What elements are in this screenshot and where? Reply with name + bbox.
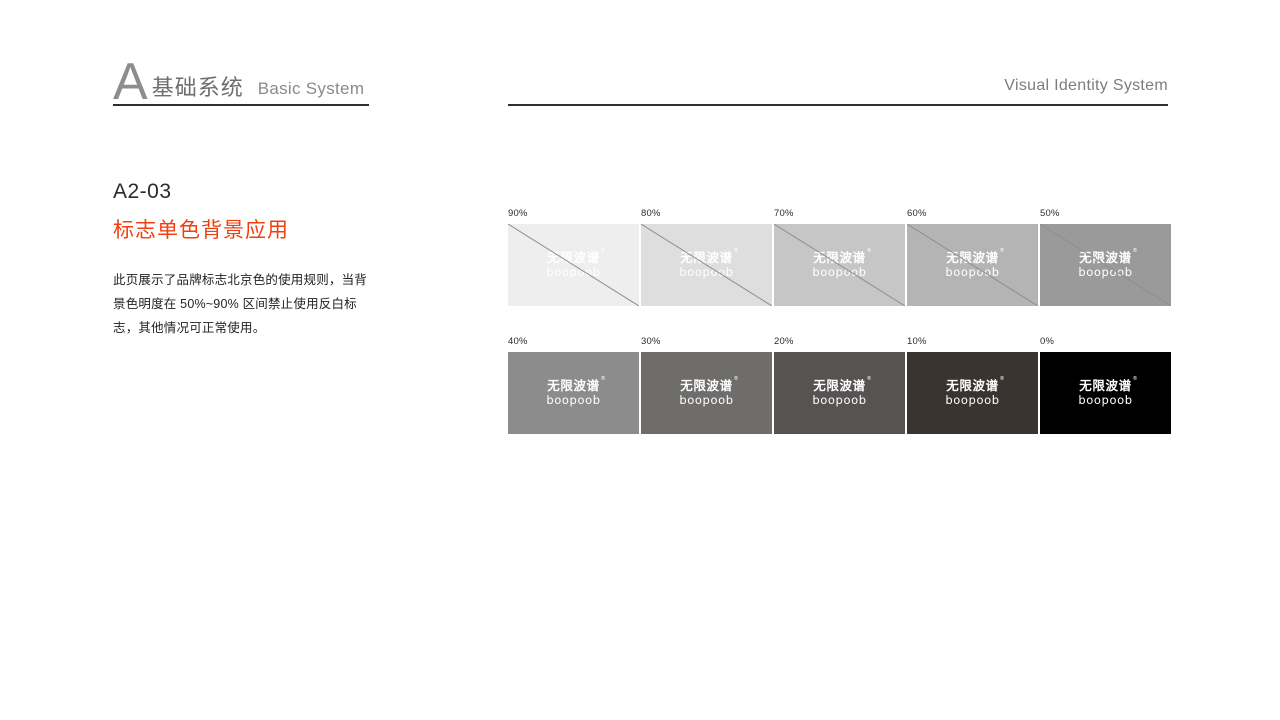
logo-text-en: boopoob	[945, 267, 999, 279]
brand-logo: 无限波谱®boopoob	[679, 380, 733, 407]
logo-text-en: boopoob	[812, 267, 866, 279]
logo-text-en: boopoob	[812, 395, 866, 407]
swatch-row-prohibited: 90%无限波谱®boopoob80%无限波谱®boopoob70%无限波谱®bo…	[508, 208, 1171, 306]
swatch-cell: 40%无限波谱®boopoob	[508, 336, 639, 434]
brand-logo: 无限波谱®boopoob	[812, 252, 866, 279]
swatch-cell: 80%无限波谱®boopoob	[641, 208, 772, 306]
brand-logo: 无限波谱®boopoob	[546, 252, 600, 279]
swatch-label: 20%	[774, 336, 905, 347]
section-letter: A	[113, 56, 148, 108]
swatch-label: 70%	[774, 208, 905, 219]
registered-mark-icon: ®	[601, 377, 606, 383]
logo-text-cn: 无限波谱®	[946, 252, 998, 265]
brand-logo: 无限波谱®boopoob	[546, 380, 600, 407]
swatch-label: 30%	[641, 336, 772, 347]
brand-logo: 无限波谱®boopoob	[945, 252, 999, 279]
swatch-cell: 50%无限波谱®boopoob	[1040, 208, 1171, 306]
swatch-row-allowed: 40%无限波谱®boopoob30%无限波谱®boopoob20%无限波谱®bo…	[508, 336, 1171, 434]
swatch-label: 90%	[508, 208, 639, 219]
logo-text-cn: 无限波谱®	[1079, 252, 1131, 265]
swatch-cell: 90%无限波谱®boopoob	[508, 208, 639, 306]
logo-text-en: boopoob	[945, 395, 999, 407]
logo-text-cn: 无限波谱®	[1079, 380, 1131, 393]
logo-text-cn: 无限波谱®	[813, 380, 865, 393]
header-rule-left	[113, 104, 369, 106]
logo-text-en: boopoob	[679, 267, 733, 279]
header-section-title: A 基础系统 Basic System	[113, 52, 364, 104]
swatch-color-patch: 无限波谱®boopoob	[508, 224, 639, 306]
swatch-cell: 10%无限波谱®boopoob	[907, 336, 1038, 434]
logo-text-en: boopoob	[1078, 267, 1132, 279]
logo-text-cn: 无限波谱®	[813, 252, 865, 265]
swatch-color-patch: 无限波谱®boopoob	[907, 352, 1038, 434]
swatch-color-patch: 无限波谱®boopoob	[641, 224, 772, 306]
registered-mark-icon: ®	[1000, 249, 1005, 255]
swatch-color-patch: 无限波谱®boopoob	[641, 352, 772, 434]
logo-text-cn: 无限波谱®	[547, 380, 599, 393]
registered-mark-icon: ®	[1000, 377, 1005, 383]
brand-logo: 无限波谱®boopoob	[1078, 380, 1132, 407]
swatch-cell: 0%无限波谱®boopoob	[1040, 336, 1171, 434]
swatch-label: 80%	[641, 208, 772, 219]
header-right-title: Visual Identity System	[1004, 77, 1168, 95]
brand-logo: 无限波谱®boopoob	[679, 252, 733, 279]
swatch-color-patch: 无限波谱®boopoob	[907, 224, 1038, 306]
swatch-label: 60%	[907, 208, 1038, 219]
brand-logo: 无限波谱®boopoob	[812, 380, 866, 407]
logo-text-en: boopoob	[679, 395, 733, 407]
swatch-color-patch: 无限波谱®boopoob	[774, 352, 905, 434]
swatch-label: 10%	[907, 336, 1038, 347]
page-title: 标志单色背景应用	[113, 214, 289, 244]
registered-mark-icon: ®	[734, 249, 739, 255]
page-root: A 基础系统 Basic System Visual Identity Syst…	[0, 0, 1280, 720]
logo-text-cn: 无限波谱®	[547, 252, 599, 265]
swatch-label: 50%	[1040, 208, 1171, 219]
logo-text-cn: 无限波谱®	[680, 252, 732, 265]
logo-text-en: boopoob	[546, 267, 600, 279]
registered-mark-icon: ®	[734, 377, 739, 383]
swatch-color-patch: 无限波谱®boopoob	[1040, 224, 1171, 306]
section-title-cn: 基础系统	[152, 76, 244, 100]
registered-mark-icon: ®	[867, 377, 872, 383]
section-title-en: Basic System	[258, 79, 365, 99]
swatch-color-patch: 无限波谱®boopoob	[774, 224, 905, 306]
registered-mark-icon: ®	[1133, 249, 1138, 255]
swatch-label: 0%	[1040, 336, 1171, 347]
logo-text-cn: 无限波谱®	[946, 380, 998, 393]
brand-logo: 无限波谱®boopoob	[945, 380, 999, 407]
swatch-cell: 30%无限波谱®boopoob	[641, 336, 772, 434]
logo-text-en: boopoob	[1078, 395, 1132, 407]
swatch-grid: 90%无限波谱®boopoob80%无限波谱®boopoob70%无限波谱®bo…	[508, 208, 1171, 434]
page-description: 此页展示了品牌标志北京色的使用规则，当背景色明度在 50%~90% 区间禁止使用…	[113, 268, 375, 340]
swatch-color-patch: 无限波谱®boopoob	[508, 352, 639, 434]
swatch-cell: 70%无限波谱®boopoob	[774, 208, 905, 306]
brand-logo: 无限波谱®boopoob	[1078, 252, 1132, 279]
swatch-color-patch: 无限波谱®boopoob	[1040, 352, 1171, 434]
registered-mark-icon: ®	[867, 249, 872, 255]
header-rule-right	[508, 104, 1168, 106]
page-code: A2-03	[113, 180, 172, 204]
swatch-cell: 20%无限波谱®boopoob	[774, 336, 905, 434]
logo-text-cn: 无限波谱®	[680, 380, 732, 393]
swatch-cell: 60%无限波谱®boopoob	[907, 208, 1038, 306]
swatch-label: 40%	[508, 336, 639, 347]
registered-mark-icon: ®	[601, 249, 606, 255]
logo-text-en: boopoob	[546, 395, 600, 407]
registered-mark-icon: ®	[1133, 377, 1138, 383]
